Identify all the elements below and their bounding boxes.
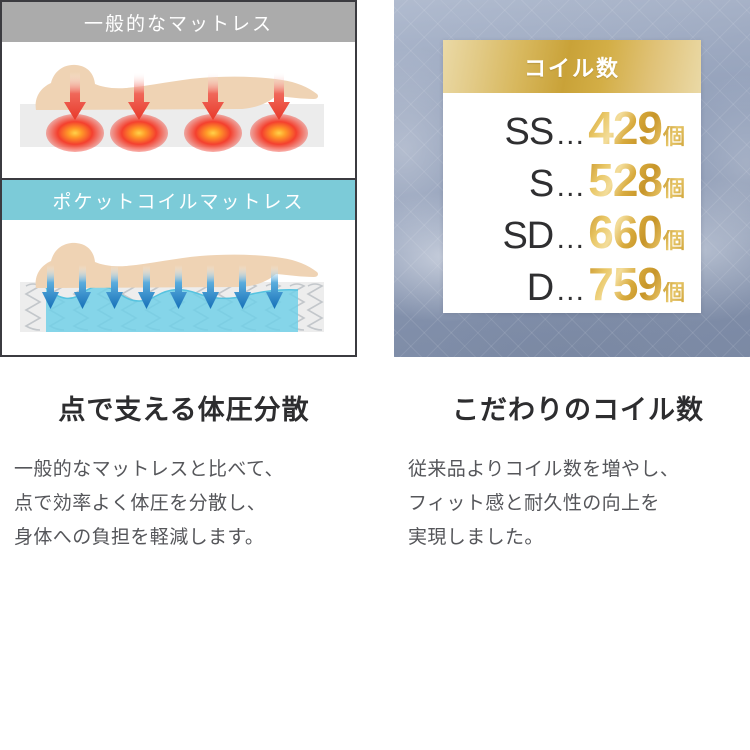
mattress-comparison-card: 一般的なマットレス	[0, 0, 357, 357]
support-arrow-icon	[234, 265, 251, 309]
ordinary-mattress-illustration	[2, 42, 355, 178]
coil-separator: …	[553, 276, 588, 306]
coil-count-header: コイル数	[443, 40, 701, 93]
coil-count-card: コイル数 SS … 429 個 S … 528 個	[394, 0, 750, 357]
feature-description: 従来品よりコイル数を増やし、 フィット感と耐久性の向上を 実現しました。	[408, 453, 748, 554]
support-arrow-icon	[170, 265, 187, 309]
support-arrow-icon	[202, 265, 219, 309]
feature-description-line: 点で効率よく体圧を分散し、	[14, 487, 354, 521]
comparison-panel-pocket-coil-header: ポケットコイルマットレス	[2, 180, 355, 220]
coil-size-label: S	[529, 165, 553, 203]
feature-block-coil-count: こだわりのコイル数 従来品よりコイル数を増やし、 フィット感と耐久性の向上を 実…	[408, 357, 748, 554]
coil-separator: …	[553, 224, 588, 254]
support-arrow-icon	[106, 265, 123, 309]
pocket-coil-mattress-illustration	[2, 220, 355, 355]
feature-description-line: 一般的なマットレスと比べて、	[14, 453, 354, 487]
feature-title: こだわりのコイル数	[408, 388, 748, 427]
pressure-arrow-icon	[202, 72, 224, 120]
support-arrow-icon	[42, 265, 59, 309]
coil-count-unit: 個	[663, 178, 685, 200]
coil-size-label: SS	[505, 113, 554, 151]
comparison-panel-ordinary-header: 一般的なマットレス	[2, 2, 355, 42]
comparison-panel-pocket-coil: ポケットコイルマットレス	[2, 178, 355, 355]
pressure-arrow-icon	[128, 72, 150, 120]
feature-title: 点で支える体圧分散	[14, 388, 354, 427]
pressure-arrow-icon	[268, 72, 290, 120]
coil-count-row: S … 528 個	[453, 157, 685, 207]
coil-count-row: SD … 660 個	[453, 209, 685, 259]
coil-separator: …	[553, 120, 588, 150]
support-arrow-icon	[138, 265, 155, 309]
feature-description-line: 実現しました。	[408, 521, 748, 555]
coil-count-unit: 個	[663, 126, 685, 148]
feature-description: 一般的なマットレスと比べて、 点で効率よく体圧を分散し、 身体への負担を軽減しま…	[14, 453, 354, 554]
coil-size-label: SD	[502, 217, 553, 255]
product-feature-infographic: 一般的なマットレス	[0, 0, 750, 750]
coil-count-list: SS … 429 個 S … 528 個 SD … 660	[443, 93, 701, 321]
coil-size-label: D	[527, 269, 553, 307]
coil-count-unit: 個	[663, 282, 685, 304]
coil-separator: …	[553, 172, 588, 202]
visual-cards-row: 一般的なマットレス	[0, 0, 750, 357]
feature-description-line: フィット感と耐久性の向上を	[408, 487, 748, 521]
feature-description-line: 身体への負担を軽減します。	[14, 521, 354, 555]
support-arrow-icon	[74, 265, 91, 309]
coil-count-row: SS … 429 個	[453, 105, 685, 155]
feature-description-line: 従来品よりコイル数を増やし、	[408, 453, 748, 487]
pressure-arrow-icon	[64, 72, 86, 120]
coil-count-row: D … 759 個	[453, 261, 685, 311]
coil-count-value: 429	[588, 105, 662, 151]
coil-count-value: 528	[588, 157, 662, 203]
coil-count-unit: 個	[663, 230, 685, 252]
support-arrow-icon	[266, 265, 283, 309]
coil-count-value: 759	[588, 261, 662, 307]
comparison-panel-ordinary: 一般的なマットレス	[2, 2, 355, 178]
coil-count-callout: コイル数 SS … 429 個 S … 528 個	[443, 40, 701, 313]
feature-block-pressure-distribution: 点で支える体圧分散 一般的なマットレスと比べて、 点で効率よく体圧を分散し、 身…	[14, 357, 354, 554]
coil-count-value: 660	[588, 209, 662, 255]
